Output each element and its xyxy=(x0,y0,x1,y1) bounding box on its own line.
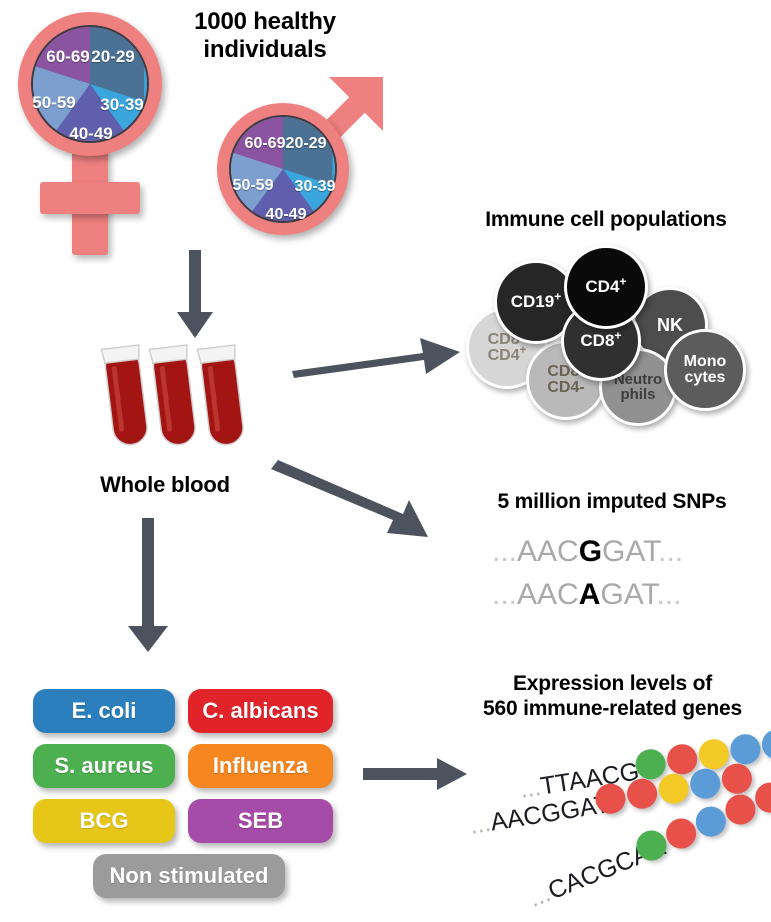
stimulus-non-stimulated-label: Non stimulated xyxy=(110,863,269,889)
stimulus-seb[interactable]: SEB xyxy=(188,799,333,843)
expression-strand-2-sequence: AACGGAT xyxy=(488,790,611,836)
stimulus-seb-label: SEB xyxy=(238,808,283,834)
immune-cell-cluster: CD19+ CD4+ CD8+ CD4+ CD8+ NK CD8- CD4- N… xyxy=(466,245,756,410)
male-pie-label-50-59: 50-59 xyxy=(233,177,274,195)
cohort-heading-line2: individuals xyxy=(170,36,360,64)
snp-row2-suffix: ... xyxy=(657,578,682,611)
expression-bead xyxy=(760,727,771,761)
snp-row2-prefix: ... xyxy=(492,578,517,611)
snp-allele-row-2: ...AACAGAT... xyxy=(492,578,682,612)
female-stem-cross xyxy=(40,182,140,214)
expression-heading: Expression levels of 560 immune-related … xyxy=(460,672,765,722)
snp-row2-variant: A xyxy=(579,578,601,611)
blood-tube-3 xyxy=(197,345,247,447)
immune-cell-monocytes-line1: Mono xyxy=(684,354,727,370)
male-pie-label-40-49: 40-49 xyxy=(266,206,307,224)
snp-row2-tail: GAT xyxy=(600,578,656,611)
expression-heading-line1: Expression levels of xyxy=(460,672,765,697)
snp-allele-row-1: ...AACGGAT... xyxy=(492,535,683,569)
male-pie-label-20-29: 20-29 xyxy=(286,135,327,153)
arrow-blood-to-snps xyxy=(253,432,468,542)
expression-bead xyxy=(688,767,722,801)
stimulus-influenza-label: Influenza xyxy=(213,753,308,779)
immune-cell-cd19-sup: + xyxy=(554,290,561,304)
stimulus-e-coli[interactable]: E. coli xyxy=(33,689,175,733)
stimulus-s-aureus-label: S. aureus xyxy=(54,753,153,779)
snp-row1-prefix: ... xyxy=(492,535,517,568)
immune-cell-cd8-sup: + xyxy=(614,329,621,343)
immune-cell-monocytes: Mono cytes xyxy=(664,329,746,411)
snp-row1-lead: AAC xyxy=(517,535,579,568)
blood-tube-1 xyxy=(101,345,151,447)
immune-cell-monocytes-line2: cytes xyxy=(685,370,726,386)
whole-blood-label: Whole blood xyxy=(75,472,255,498)
immune-cell-cd4: CD4+ xyxy=(564,245,648,329)
stimulus-c-albicans[interactable]: C. albicans xyxy=(188,689,333,733)
expression-bead xyxy=(657,772,691,806)
snp-row2-lead: AAC xyxy=(517,578,579,611)
female-pie-label-50-59: 50-59 xyxy=(32,93,75,113)
snps-heading: 5 million imputed SNPs xyxy=(462,490,762,515)
stimulus-s-aureus[interactable]: S. aureus xyxy=(33,744,175,788)
immune-cell-cd8-label: CD8 xyxy=(580,331,614,350)
stimulus-c-albicans-label: C. albicans xyxy=(202,698,318,724)
blood-tube-2 xyxy=(149,345,199,447)
expression-heading-line2: 560 immune-related genes xyxy=(460,697,765,722)
snp-row1-suffix: ... xyxy=(658,535,683,568)
expression-bead xyxy=(625,777,659,811)
male-pie-label-30-39: 30-39 xyxy=(295,178,336,196)
immune-cell-cd19-label: CD19 xyxy=(511,292,554,311)
female-pie-label-30-39: 30-39 xyxy=(100,95,143,115)
female-pie-label-20-29: 20-29 xyxy=(91,47,134,67)
stimulus-influenza[interactable]: Influenza xyxy=(188,744,333,788)
stimulus-bcg[interactable]: BCG xyxy=(33,799,175,843)
immune-cell-nk-label: NK xyxy=(657,316,683,334)
figure-canvas: 1000 healthy individuals 20-29 30-39 40-… xyxy=(0,0,771,922)
female-pie-label-60-69: 60-69 xyxy=(46,47,89,67)
expression-strand-2-text: ...AACGGAT xyxy=(468,790,612,841)
cohort-heading-line1: 1000 healthy xyxy=(170,8,360,36)
immune-cell-cd4-sup: + xyxy=(619,275,626,289)
arrow-blood-to-immune-cells xyxy=(290,327,465,377)
stimulus-e-coli-label: E. coli xyxy=(72,698,137,724)
female-pie-label-40-49: 40-49 xyxy=(69,124,112,144)
arrow-stimuli-to-expression xyxy=(363,756,473,796)
blood-tubes-group xyxy=(95,335,275,455)
male-pie-label-60-69: 60-69 xyxy=(245,135,286,153)
snp-row1-variant: G xyxy=(579,535,602,568)
stimulus-bcg-label: BCG xyxy=(80,808,129,834)
stimulus-non-stimulated[interactable]: Non stimulated xyxy=(93,854,285,898)
arrow-blood-to-stimuli xyxy=(120,518,180,658)
cohort-heading: 1000 healthy individuals xyxy=(170,8,360,65)
female-symbol: 20-29 30-39 40-49 50-59 60-69 xyxy=(10,10,190,260)
immune-cell-cd8n-cd4n-line2: CD4- xyxy=(547,380,584,396)
snp-row1-tail: GAT xyxy=(602,535,658,568)
immune-cell-neutrophils-line2: phils xyxy=(620,387,655,402)
immune-cell-cd8p-cd4p-sup2: + xyxy=(520,345,527,357)
immune-cell-cd8p-cd4p-line2: CD4 xyxy=(488,347,520,364)
arrow-cohort-to-blood xyxy=(165,250,225,345)
immune-cell-cd4-label: CD4 xyxy=(585,277,619,296)
male-symbol: 20-29 30-39 40-49 50-59 60-69 xyxy=(205,75,390,255)
immune-heading: Immune cell populations xyxy=(446,208,766,233)
